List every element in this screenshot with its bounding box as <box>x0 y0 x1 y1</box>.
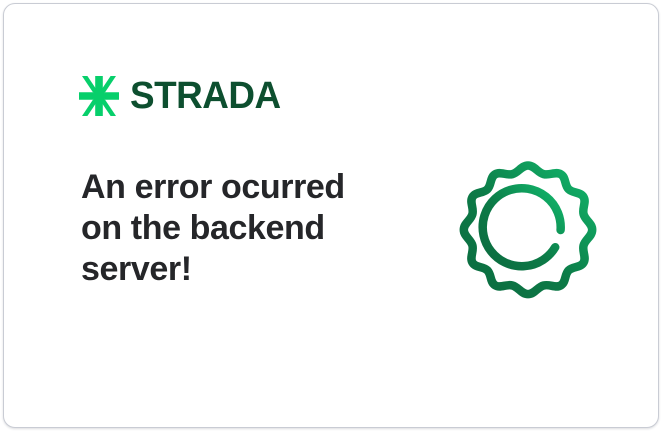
gear-illustration <box>445 142 611 308</box>
error-message-line-2: on the backend <box>81 208 381 249</box>
asterisk-star-icon <box>79 76 119 116</box>
error-message-line-1: An error ocurred <box>81 167 381 208</box>
strada-wordmark: STRADA <box>130 77 281 115</box>
error-card: STRADA An error ocurred on the backend s… <box>3 3 659 428</box>
error-message: An error ocurred on the backend server! <box>81 167 381 290</box>
strada-logo: STRADA <box>79 74 285 118</box>
error-message-line-3: server! <box>81 249 381 290</box>
